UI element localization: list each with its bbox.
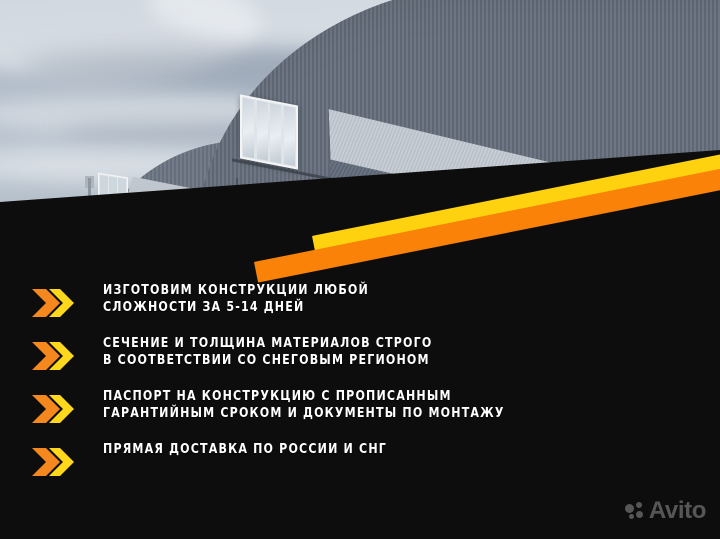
double-chevron-icon [31,394,75,424]
benefit-item: ПАСПОРТ НА КОНСТРУКЦИЮ С ПРОПИСАННЫМ ГАР… [0,388,720,428]
benefit-item: ПРЯМАЯ ДОСТАВКА ПО РОССИИ И СНГ [0,441,720,481]
benefit-text: ПАСПОРТ НА КОНСТРУКЦИЮ С ПРОПИСАННЫМ ГАР… [103,388,505,423]
benefit-text: ИЗГОТОВИМ КОНСТРУКЦИИ ЛЮБОЙ СЛОЖНОСТИ ЗА… [103,282,369,317]
avito-watermark: Avito [625,497,706,525]
double-chevron-icon [31,447,75,477]
double-chevron-icon [31,288,75,318]
benefit-text: СЕЧЕНИЕ И ТОЛЩИНА МАТЕРИАЛОВ СТРОГО В СО… [103,335,432,370]
benefit-text: ПРЯМАЯ ДОСТАВКА ПО РОССИИ И СНГ [103,441,387,458]
benefit-list: ИЗГОТОВИМ КОНСТРУКЦИИ ЛЮБОЙ СЛОЖНОСТИ ЗА… [0,282,720,494]
avito-brand-label: Avito [649,497,706,525]
benefit-item: ИЗГОТОВИМ КОНСТРУКЦИИ ЛЮБОЙ СЛОЖНОСТИ ЗА… [0,282,720,322]
double-chevron-icon [31,341,75,371]
avito-dots-logo-icon [625,502,644,521]
hangar-large-window-strip [240,94,298,169]
benefit-item: СЕЧЕНИЕ И ТОЛЩИНА МАТЕРИАЛОВ СТРОГО В СО… [0,335,720,375]
advertisement-banner: ИЗГОТОВИМ КОНСТРУКЦИИ ЛЮБОЙ СЛОЖНОСТИ ЗА… [0,0,720,539]
